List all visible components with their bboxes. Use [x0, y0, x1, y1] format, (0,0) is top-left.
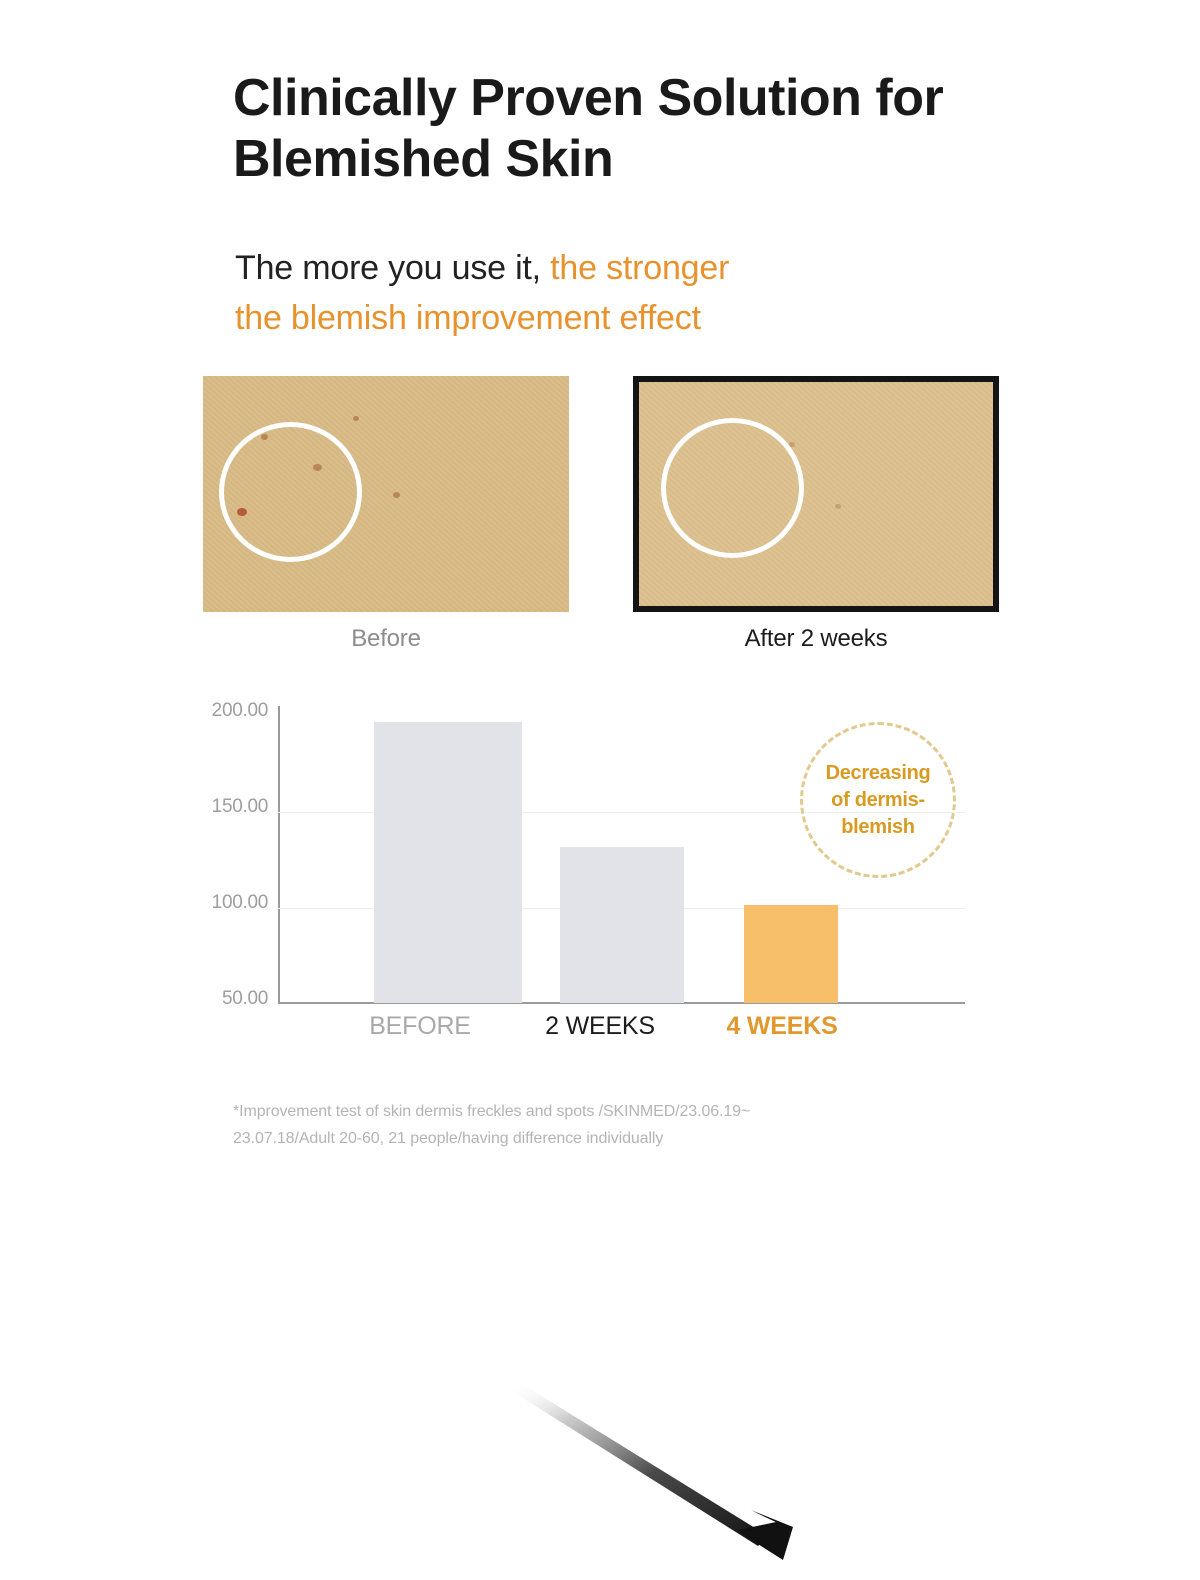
blemish-spot [835, 504, 841, 509]
y-tick-label: 150.00 [150, 796, 268, 818]
infographic-page: Clinically Proven Solution for Blemished… [0, 0, 1200, 1200]
x-label-4-weeks: 4 WEEKS [672, 1012, 892, 1041]
before-photo [203, 376, 569, 612]
y-tick-label: 200.00 [150, 700, 268, 722]
y-tick-label: 50.00 [150, 988, 268, 1010]
subheading: The more you use it, the stronger the bl… [235, 243, 935, 344]
subheading-accent-line1: the stronger [550, 249, 729, 287]
y-tick-label: 100.00 [150, 892, 268, 914]
bar-4-weeks [744, 905, 838, 1003]
after-photo [633, 376, 999, 612]
page-title: Clinically Proven Solution for Blemished… [233, 68, 1033, 191]
before-after-comparison [0, 376, 1200, 616]
bar-before [374, 722, 522, 1003]
decreasing-badge: Decreasing of dermis- blemish [800, 722, 956, 878]
results-bar-chart: 200.00 150.00 100.00 50.00 [0, 700, 1200, 1060]
footnote-text: *Improvement test of skin dermis freckle… [233, 1098, 853, 1152]
downward-trend-arrow-icon [480, 1380, 820, 1580]
blemish-spot [353, 416, 359, 421]
highlight-circle-icon [219, 422, 362, 562]
blemish-spot [393, 492, 400, 498]
bar-2-weeks [560, 847, 684, 1003]
subheading-plain: The more you use it, [235, 249, 550, 287]
badge-line-3: blemish [841, 816, 914, 838]
badge-line-1: Decreasing [826, 762, 931, 784]
badge-line-2: of dermis- [831, 789, 925, 811]
highlight-circle-icon [661, 418, 804, 558]
subheading-accent-line2: the blemish improvement effect [235, 299, 701, 337]
before-caption: Before [203, 625, 569, 653]
after-caption: After 2 weeks [633, 625, 999, 653]
